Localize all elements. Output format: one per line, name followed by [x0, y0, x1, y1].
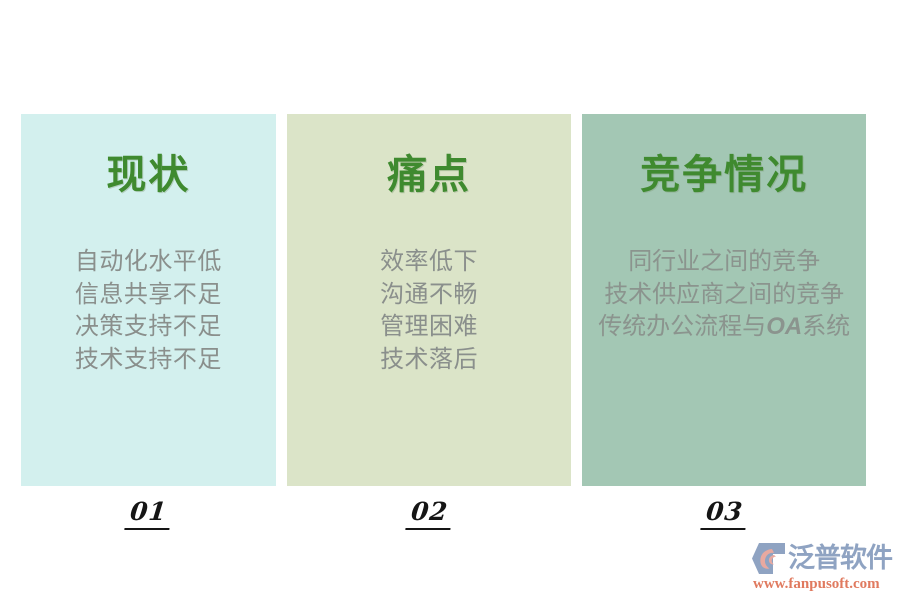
list-item-suffix: 系统: [802, 314, 850, 340]
list-item: 自动化水平低: [21, 246, 276, 279]
panel-title: 痛点: [287, 152, 572, 198]
list-item: 技术供应商之间的竞争: [582, 279, 866, 312]
panel-row: 现状 自动化水平低 信息共享不足 决策支持不足 技术支持不足 痛点 效率低下 沟…: [21, 114, 866, 486]
brand-name: 泛普软件: [788, 543, 892, 573]
panel-body-list: 同行业之间的竞争 技术供应商之间的竞争 传统办公流程与OA系统: [582, 246, 866, 344]
step-marker: 02: [287, 498, 572, 538]
panel-pain-points[interactable]: 痛点 效率低下 沟通不畅 管理困难 技术落后: [287, 114, 572, 486]
brand-url: www.fanpusoft.com: [753, 576, 894, 593]
panel-competition[interactable]: 竞争情况 同行业之间的竞争 技术供应商之间的竞争 传统办公流程与OA系统: [582, 114, 866, 486]
fanpu-logo-icon: [752, 543, 785, 574]
list-item: 同行业之间的竞争: [582, 246, 866, 279]
step-marker: 01: [21, 498, 276, 538]
list-item: 管理困难: [287, 311, 572, 344]
step-number-row: 01 02 03: [21, 498, 866, 538]
panel-body-list: 效率低下 沟通不畅 管理困难 技术落后: [287, 246, 572, 376]
step-marker: 03: [582, 498, 866, 538]
step-number-label: 02: [405, 498, 453, 530]
panel-body-list: 自动化水平低 信息共享不足 决策支持不足 技术支持不足: [21, 246, 276, 376]
slide-canvas: 现状 自动化水平低 信息共享不足 决策支持不足 技术支持不足 痛点 效率低下 沟…: [0, 0, 900, 600]
brand-logo[interactable]: 泛普软件 www.fanpusoft.com: [752, 541, 894, 593]
panel-title: 现状: [21, 152, 276, 198]
list-item-prefix: 传统办公流程与: [598, 314, 766, 340]
list-item: 效率低下: [287, 246, 572, 279]
list-item: 沟通不畅: [287, 279, 572, 312]
brand-logo-row: 泛普软件: [752, 541, 894, 575]
list-item: 技术落后: [287, 344, 572, 377]
list-item: 传统办公流程与OA系统: [582, 311, 866, 344]
list-item-emphasis: OA: [766, 313, 802, 340]
list-item: 信息共享不足: [21, 279, 276, 312]
step-number-label: 03: [700, 498, 748, 530]
list-item: 决策支持不足: [21, 311, 276, 344]
list-item: 技术支持不足: [21, 344, 276, 377]
step-number-label: 01: [124, 498, 172, 530]
panel-current-state[interactable]: 现状 自动化水平低 信息共享不足 决策支持不足 技术支持不足: [21, 114, 276, 486]
panel-title: 竞争情况: [582, 152, 866, 198]
